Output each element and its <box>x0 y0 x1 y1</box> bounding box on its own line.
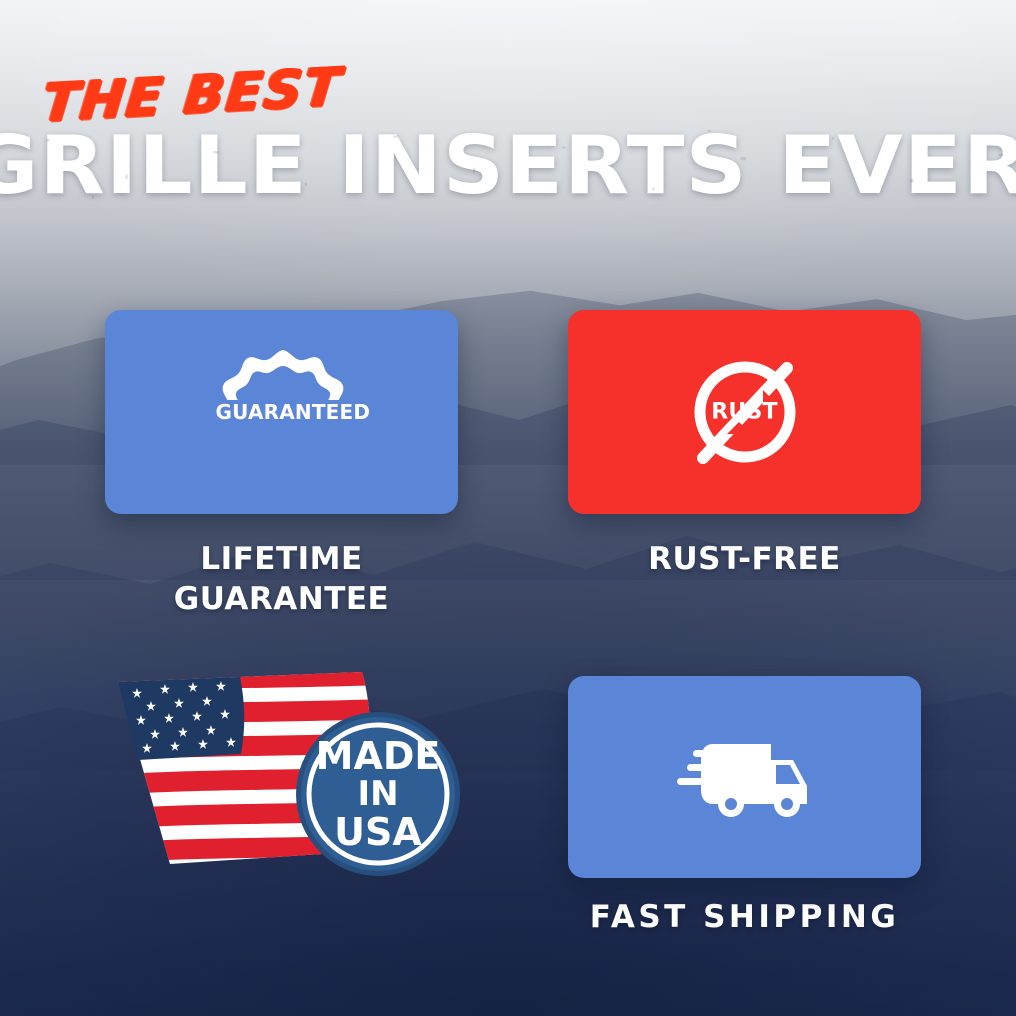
feature-made-in-usa[interactable]: MADE IN USA <box>100 668 466 878</box>
made-in-usa-line-3: USA <box>296 813 460 851</box>
fast-shipping-caption-line-1: FAST SHIPPING <box>568 898 921 938</box>
usa-flag-badge-icon: MADE IN USA <box>100 668 466 878</box>
rust-free-caption-line-1: RUST-FREE <box>568 540 921 580</box>
feature-fast-shipping[interactable]: FAST SHIPPING <box>568 676 921 938</box>
rust-free-caption: RUST-FREE <box>568 540 921 580</box>
fast-shipping-card[interactable] <box>568 676 921 878</box>
made-in-usa-line-2: IN <box>296 777 460 811</box>
rust-free-card[interactable]: RUST <box>568 310 921 514</box>
feature-guarantee[interactable]: GUARANTEED LIFETIME GUARANTEE <box>105 310 458 619</box>
feature-grid: GUARANTEED LIFETIME GUARANTEE <box>0 0 1016 1016</box>
guarantee-caption-line-1: LIFETIME <box>105 540 458 580</box>
promo-graphic: THE BEST GRILLE INSERTS EVER! <box>0 0 1016 1016</box>
guarantee-seal-icon: GUARANTEED <box>216 346 348 478</box>
made-in-usa-text: MADE IN USA <box>296 737 460 851</box>
guarantee-card[interactable]: GUARANTEED <box>105 310 458 514</box>
guarantee-caption: LIFETIME GUARANTEE <box>105 540 458 619</box>
fast-shipping-caption: FAST SHIPPING <box>568 898 921 938</box>
made-in-usa-line-1: MADE <box>296 737 460 775</box>
feature-rust-free[interactable]: RUST RUST-FREE <box>568 310 921 580</box>
guarantee-caption-line-2: GUARANTEE <box>105 580 458 620</box>
delivery-truck-icon <box>675 734 815 820</box>
no-rust-icon: RUST <box>681 348 809 476</box>
